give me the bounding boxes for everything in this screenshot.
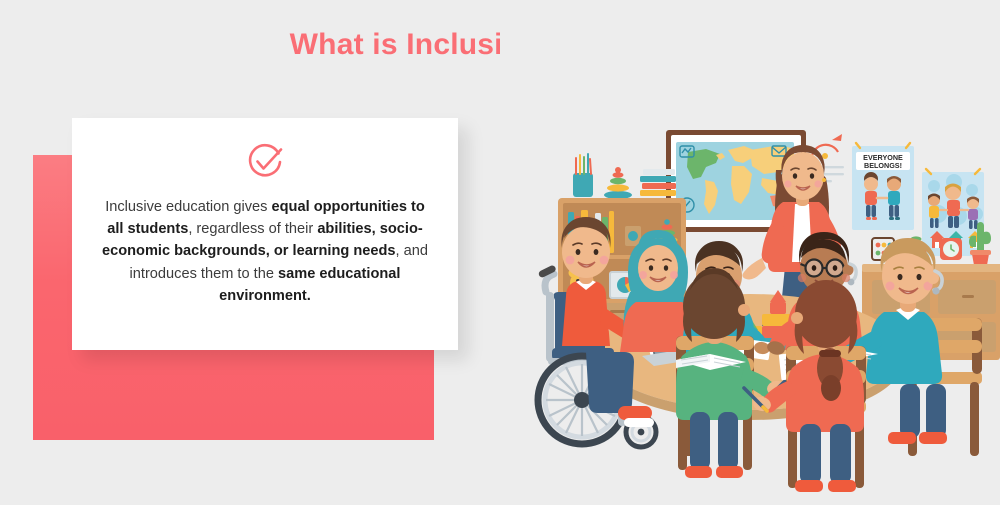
inclusive-classroom-illustration: EVERYONE BELONGS!: [500, 0, 1000, 500]
definition-text-plain: Inclusive education gives: [105, 199, 271, 215]
definition-text-plain: , regardless of their: [188, 221, 317, 237]
check-icon-wrap: [72, 140, 458, 184]
slide-root: What is Inclusive Education? 21K School …: [0, 0, 1000, 500]
everyone-belongs-poster: EVERYONE BELONGS!: [852, 143, 914, 230]
check-circle-icon: [243, 140, 287, 184]
svg-text:BELONGS!: BELONGS!: [864, 161, 902, 170]
definition-text: Inclusive education gives equal opportun…: [96, 196, 434, 307]
definition-card: Inclusive education gives equal opportun…: [72, 118, 458, 350]
